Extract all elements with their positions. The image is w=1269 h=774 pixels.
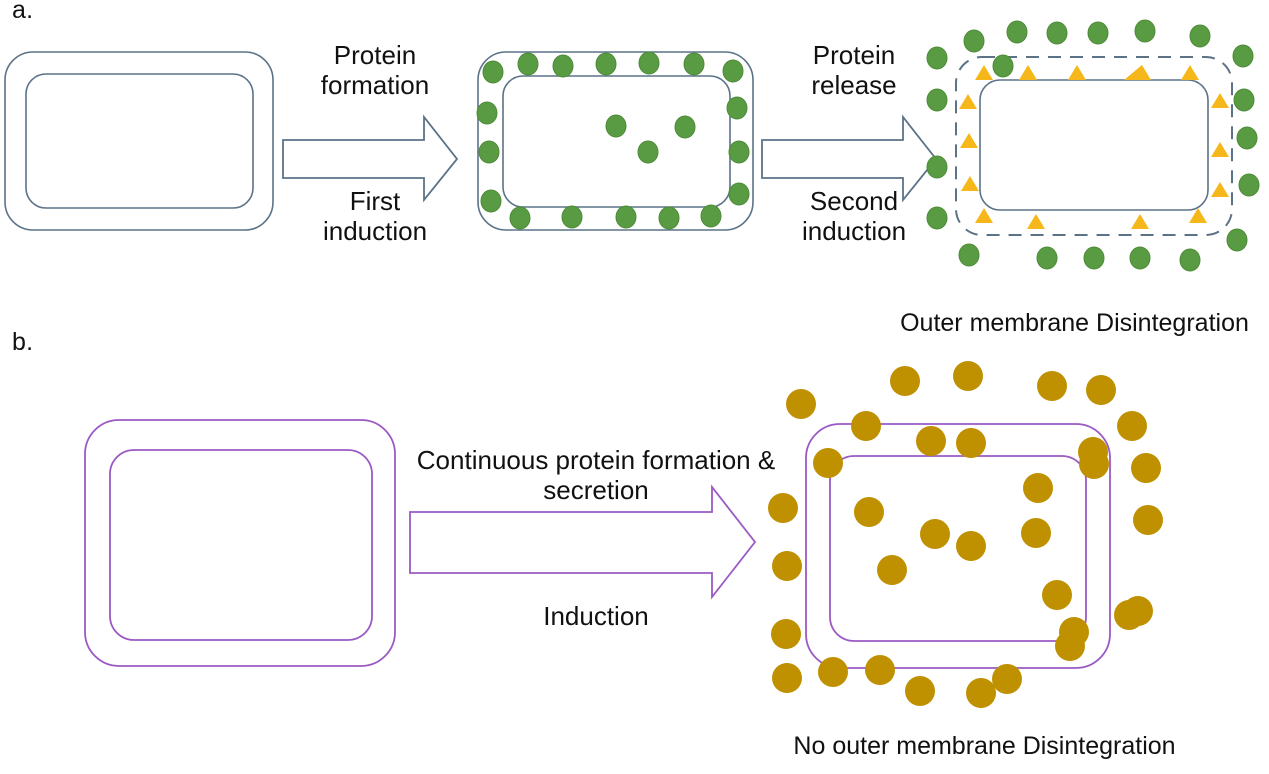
inner-membrane — [26, 74, 253, 208]
caption-first-induction: First induction — [300, 186, 450, 246]
inner-membrane — [503, 76, 730, 207]
outcome-outer-membrane-disintegration: Outer membrane Disintegration — [880, 308, 1269, 338]
caption-induction: Induction — [410, 601, 782, 631]
inner-membrane — [110, 450, 372, 640]
panel-a-label: a. — [12, 0, 33, 25]
caption-second-induction: Second induction — [779, 186, 929, 246]
panel-a-cell-3-protein-released — [927, 20, 1259, 271]
panel-b-cell-1-untreated — [85, 420, 395, 666]
figure-canvas — [0, 0, 1269, 774]
figure-root: a. b. Protein formation First induction … — [0, 0, 1269, 774]
panel-a-cell-1-untreated — [5, 52, 273, 230]
caption-protein-release: Protein release — [779, 40, 929, 100]
panel-b-cell-2-secreting — [768, 361, 1163, 708]
panel-b-graphics — [85, 361, 1163, 708]
panel-a-cell-2-protein-formed — [477, 52, 753, 230]
panel-a-graphics — [5, 20, 1259, 271]
inner-membrane — [980, 80, 1208, 210]
caption-continuous-secretion: Continuous protein formation & secretion — [410, 445, 782, 505]
panel-b-label: b. — [12, 328, 33, 357]
outcome-no-outer-membrane-disintegration: No outer membrane Disintegration — [700, 731, 1269, 761]
caption-protein-formation: Protein formation — [300, 40, 450, 100]
